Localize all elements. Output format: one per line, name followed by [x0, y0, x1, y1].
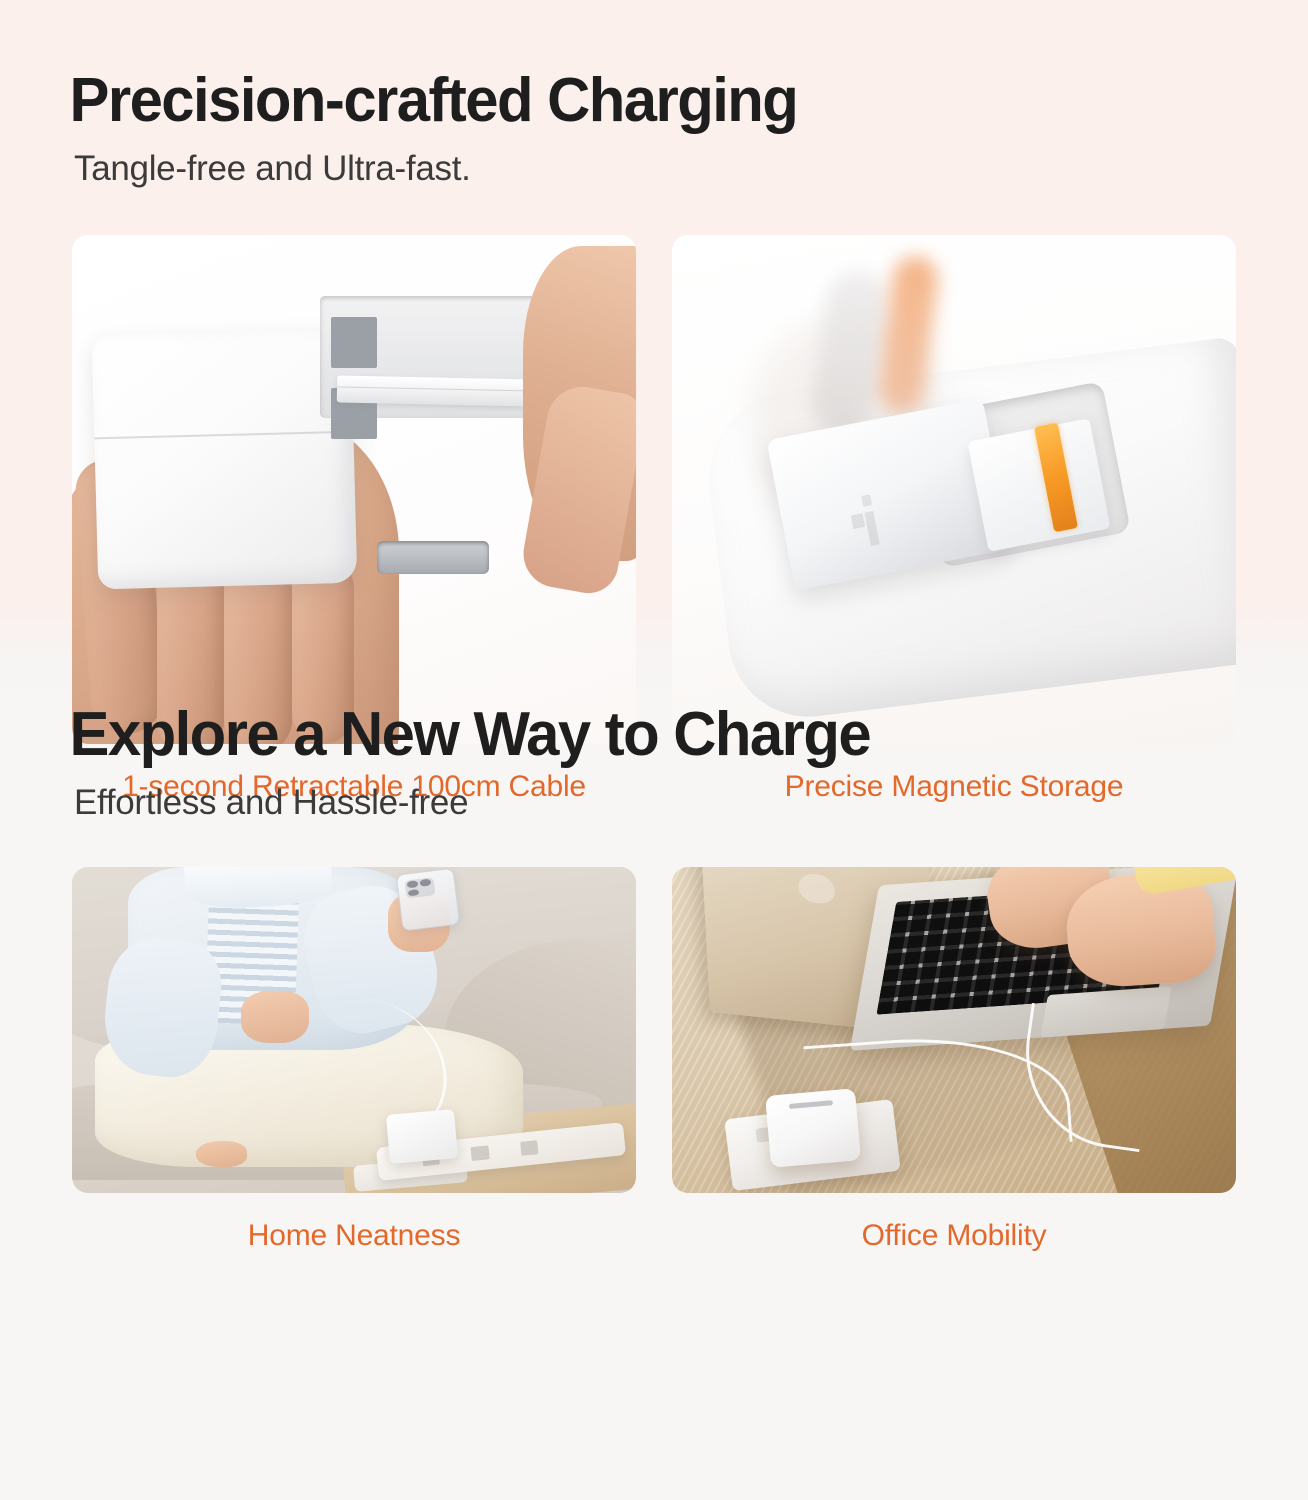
charger-adapter: [386, 1109, 458, 1164]
section-explore-a-new-way-to-charge: Explore a New Way to Charge Effortless a…: [0, 650, 1308, 1253]
section-1-subheading: Tangle-free and Ultra-fast.: [0, 133, 1308, 189]
slot-notch-top: [331, 317, 376, 368]
section-2-heading: Explore a New Way to Charge: [0, 650, 1262, 767]
feature-cell-home-neatness: Home Neatness: [72, 867, 636, 1253]
usb-c-port: [377, 541, 490, 574]
photo-home-neatness: [72, 867, 636, 1193]
photo-office-mobility: [672, 867, 1236, 1193]
smartphone: [396, 867, 461, 931]
section-2-image-grid: Home Neatness: [0, 867, 1308, 1253]
charger-adapter-docked: [765, 1089, 861, 1168]
laptop-logo-icon: [797, 872, 835, 905]
feature-cell-office-mobility: Office Mobility: [672, 867, 1236, 1253]
charger-seam: [94, 430, 353, 439]
section-1-heading: Precision-crafted Charging: [0, 0, 1262, 133]
caption-office-mobility: Office Mobility: [672, 1193, 1236, 1253]
caption-home-neatness: Home Neatness: [72, 1193, 636, 1253]
scene-woman-on-sofa: [72, 867, 636, 1193]
phone-camera-module: [404, 876, 435, 898]
charger-brick: [91, 329, 357, 590]
bare-foot: [196, 1141, 247, 1167]
section-2-subheading: Effortless and Hassle-free: [0, 767, 1308, 823]
scene-laptop-on-desk: [672, 867, 1236, 1193]
product-feature-page: Precision-crafted Charging Tangle-free a…: [0, 0, 1308, 1500]
